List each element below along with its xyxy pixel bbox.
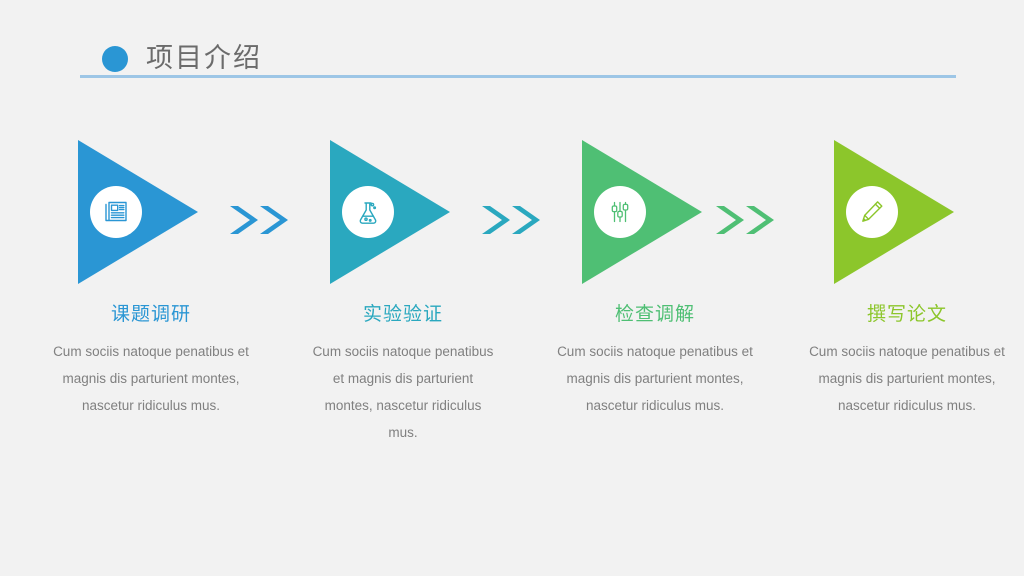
- filled-circle-icon: [102, 46, 128, 72]
- stage-body-3: Cum sociis natoque penatibus et magnis d…: [549, 338, 761, 419]
- stage-item-4[interactable]: 撰写论文 Cum sociis natoque penatibus et mag…: [782, 128, 1024, 419]
- stage-body-4: Cum sociis natoque penatibus et magnis d…: [801, 338, 1013, 419]
- stage-heading-2: 实验验证: [278, 302, 528, 328]
- stage-item-1[interactable]: 课题调研 Cum sociis natoque penatibus et mag…: [26, 128, 276, 419]
- slide-header: 项目介绍: [80, 36, 956, 82]
- stage-graphic-4: [782, 128, 1024, 288]
- slide-canvas: 项目介绍: [0, 0, 1024, 576]
- pencil-icon: [846, 186, 898, 238]
- newspaper-icon: [90, 186, 142, 238]
- sliders-icon: [594, 186, 646, 238]
- flask-icon: [342, 186, 394, 238]
- stage-body-2: Cum sociis natoque penatibus et magnis d…: [310, 338, 496, 446]
- stage-item-2[interactable]: 实验验证 Cum sociis natoque penatibus et mag…: [278, 128, 528, 446]
- stage-body-1: Cum sociis natoque penatibus et magnis d…: [45, 338, 257, 419]
- stage-heading-1: 课题调研: [26, 302, 276, 328]
- header-divider: [80, 75, 956, 78]
- page-title: 项目介绍: [146, 38, 262, 78]
- stage-heading-3: 检查调解: [530, 302, 780, 328]
- stage-item-3[interactable]: 检查调解 Cum sociis natoque penatibus et mag…: [530, 128, 780, 419]
- double-chevron-right-icon: [714, 200, 784, 240]
- process-stage-row: 课题调研 Cum sociis natoque penatibus et mag…: [0, 128, 1024, 478]
- stage-heading-4: 撰写论文: [782, 302, 1024, 328]
